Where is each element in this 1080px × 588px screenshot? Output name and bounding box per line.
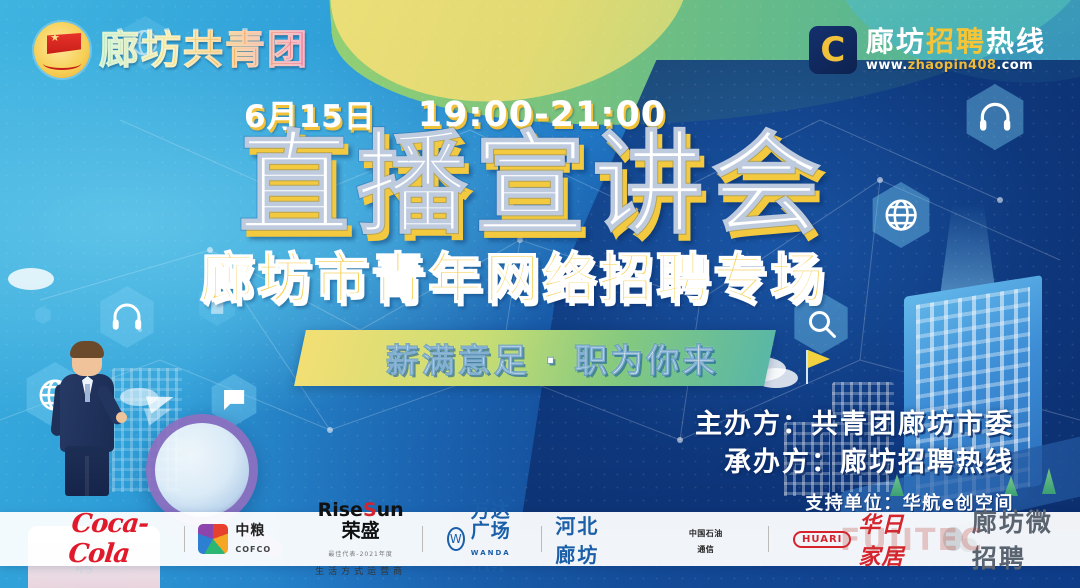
businessman-illustration	[52, 344, 124, 496]
title-char: 线	[1016, 25, 1046, 58]
url-brand: zhaopin408	[908, 58, 997, 73]
tagline-text: 薪满意足 · 职为你来	[352, 336, 752, 380]
hexagon-decoration	[34, 306, 52, 324]
url-prefix: www.	[866, 58, 908, 73]
risesun-rise: Rise	[318, 499, 363, 521]
wanda-circle-icon: W	[447, 527, 465, 551]
wechat-icon	[943, 527, 963, 551]
title-char: 聘	[956, 25, 986, 58]
sponsor-coca-cola[interactable]: Coca-Cola	[56, 512, 184, 566]
poster-canvas: 廊坊共青团 C 廊坊招聘热线 www.zhaopin408.com 6月15日 …	[0, 0, 1080, 588]
recruit-hotline-mark-icon: C	[809, 26, 857, 74]
sponsor-wanda-city: 河北廊坊	[541, 512, 633, 566]
wanda-city-label: 河北廊坊	[555, 510, 619, 568]
coca-cola-label: Coca-Cola	[67, 509, 173, 569]
wanda-label-cn: 万达广场	[471, 500, 511, 542]
sponsor-huari[interactable]: HUARI 华日家居	[779, 512, 921, 566]
sponsor-wanda[interactable]: W 万达广场 WANDA PLAZA	[433, 512, 541, 566]
risesun-label: RiseSun 荣盛	[318, 499, 404, 542]
page-subtitle: 廊坊市青年网络招聘专场	[200, 252, 827, 306]
title-char: 廊	[866, 25, 896, 58]
wechat-label: 廊坊微招聘	[972, 503, 1066, 575]
organizer-line: 承办方：廊坊招聘热线	[695, 444, 1014, 482]
page-title: 直播宣讲会	[238, 128, 828, 242]
huari-badge-label: HUARI	[793, 531, 851, 548]
huari-label-cn: 华日家居	[858, 507, 907, 571]
wanda-label-en: WANDA PLAZA	[471, 549, 511, 574]
organizer-block: 主办方：共青团廊坊市委 承办方：廊坊招聘热线 支持单位：华航e创空间	[695, 406, 1014, 515]
title-char: 热	[986, 25, 1016, 58]
wechat-account[interactable]: 廊坊微招聘	[921, 512, 1080, 566]
host-line: 主办方：共青团廊坊市委	[695, 406, 1014, 444]
title-char: 坊	[896, 25, 926, 58]
risesun-sub-small: 最佳代表-2021年度	[328, 551, 392, 558]
recruit-hotline-url[interactable]: www.zhaopin408.com	[866, 58, 1046, 73]
divider	[422, 526, 423, 552]
risesun-sun-dot: S	[363, 499, 377, 521]
title-char: 招	[926, 25, 956, 58]
recruit-hotline-logo[interactable]: C 廊坊招聘热线 www.zhaopin408.com	[809, 26, 1046, 74]
sponsor-cofco[interactable]: 中粮 COFCO	[184, 512, 285, 566]
cofco-label-cn: 中粮	[235, 523, 265, 539]
divider	[768, 526, 769, 552]
sponsor-petrochina[interactable]: 中国石油通信	[673, 512, 738, 566]
youth-league-logo: 廊坊共青团	[34, 22, 309, 78]
cofco-label-en: COFCO	[235, 545, 271, 554]
youth-league-label: 廊坊共青团	[99, 30, 309, 70]
cofco-cube-icon	[198, 524, 228, 554]
headphone-icon	[96, 286, 158, 348]
url-suffix: .com	[996, 58, 1033, 73]
recruit-hotline-title: 廊坊招聘热线	[866, 27, 1046, 56]
youth-league-emblem-icon	[34, 22, 90, 78]
risesun-un: un	[377, 499, 404, 521]
risesun-cn: 荣盛	[342, 520, 380, 542]
sponsor-bar: Coca-Cola 中粮 COFCO RiseSun 荣盛 最佳代表-2021年…	[0, 512, 1080, 566]
sponsor-risesun[interactable]: RiseSun 荣盛 最佳代表-2021年度 生活方式运营商	[299, 512, 422, 566]
risesun-tagline: 生活方式运营商	[315, 567, 406, 577]
flag-icon	[808, 350, 830, 368]
cloud-decoration	[8, 268, 54, 290]
petrochina-label: 中国石油通信	[689, 529, 723, 554]
